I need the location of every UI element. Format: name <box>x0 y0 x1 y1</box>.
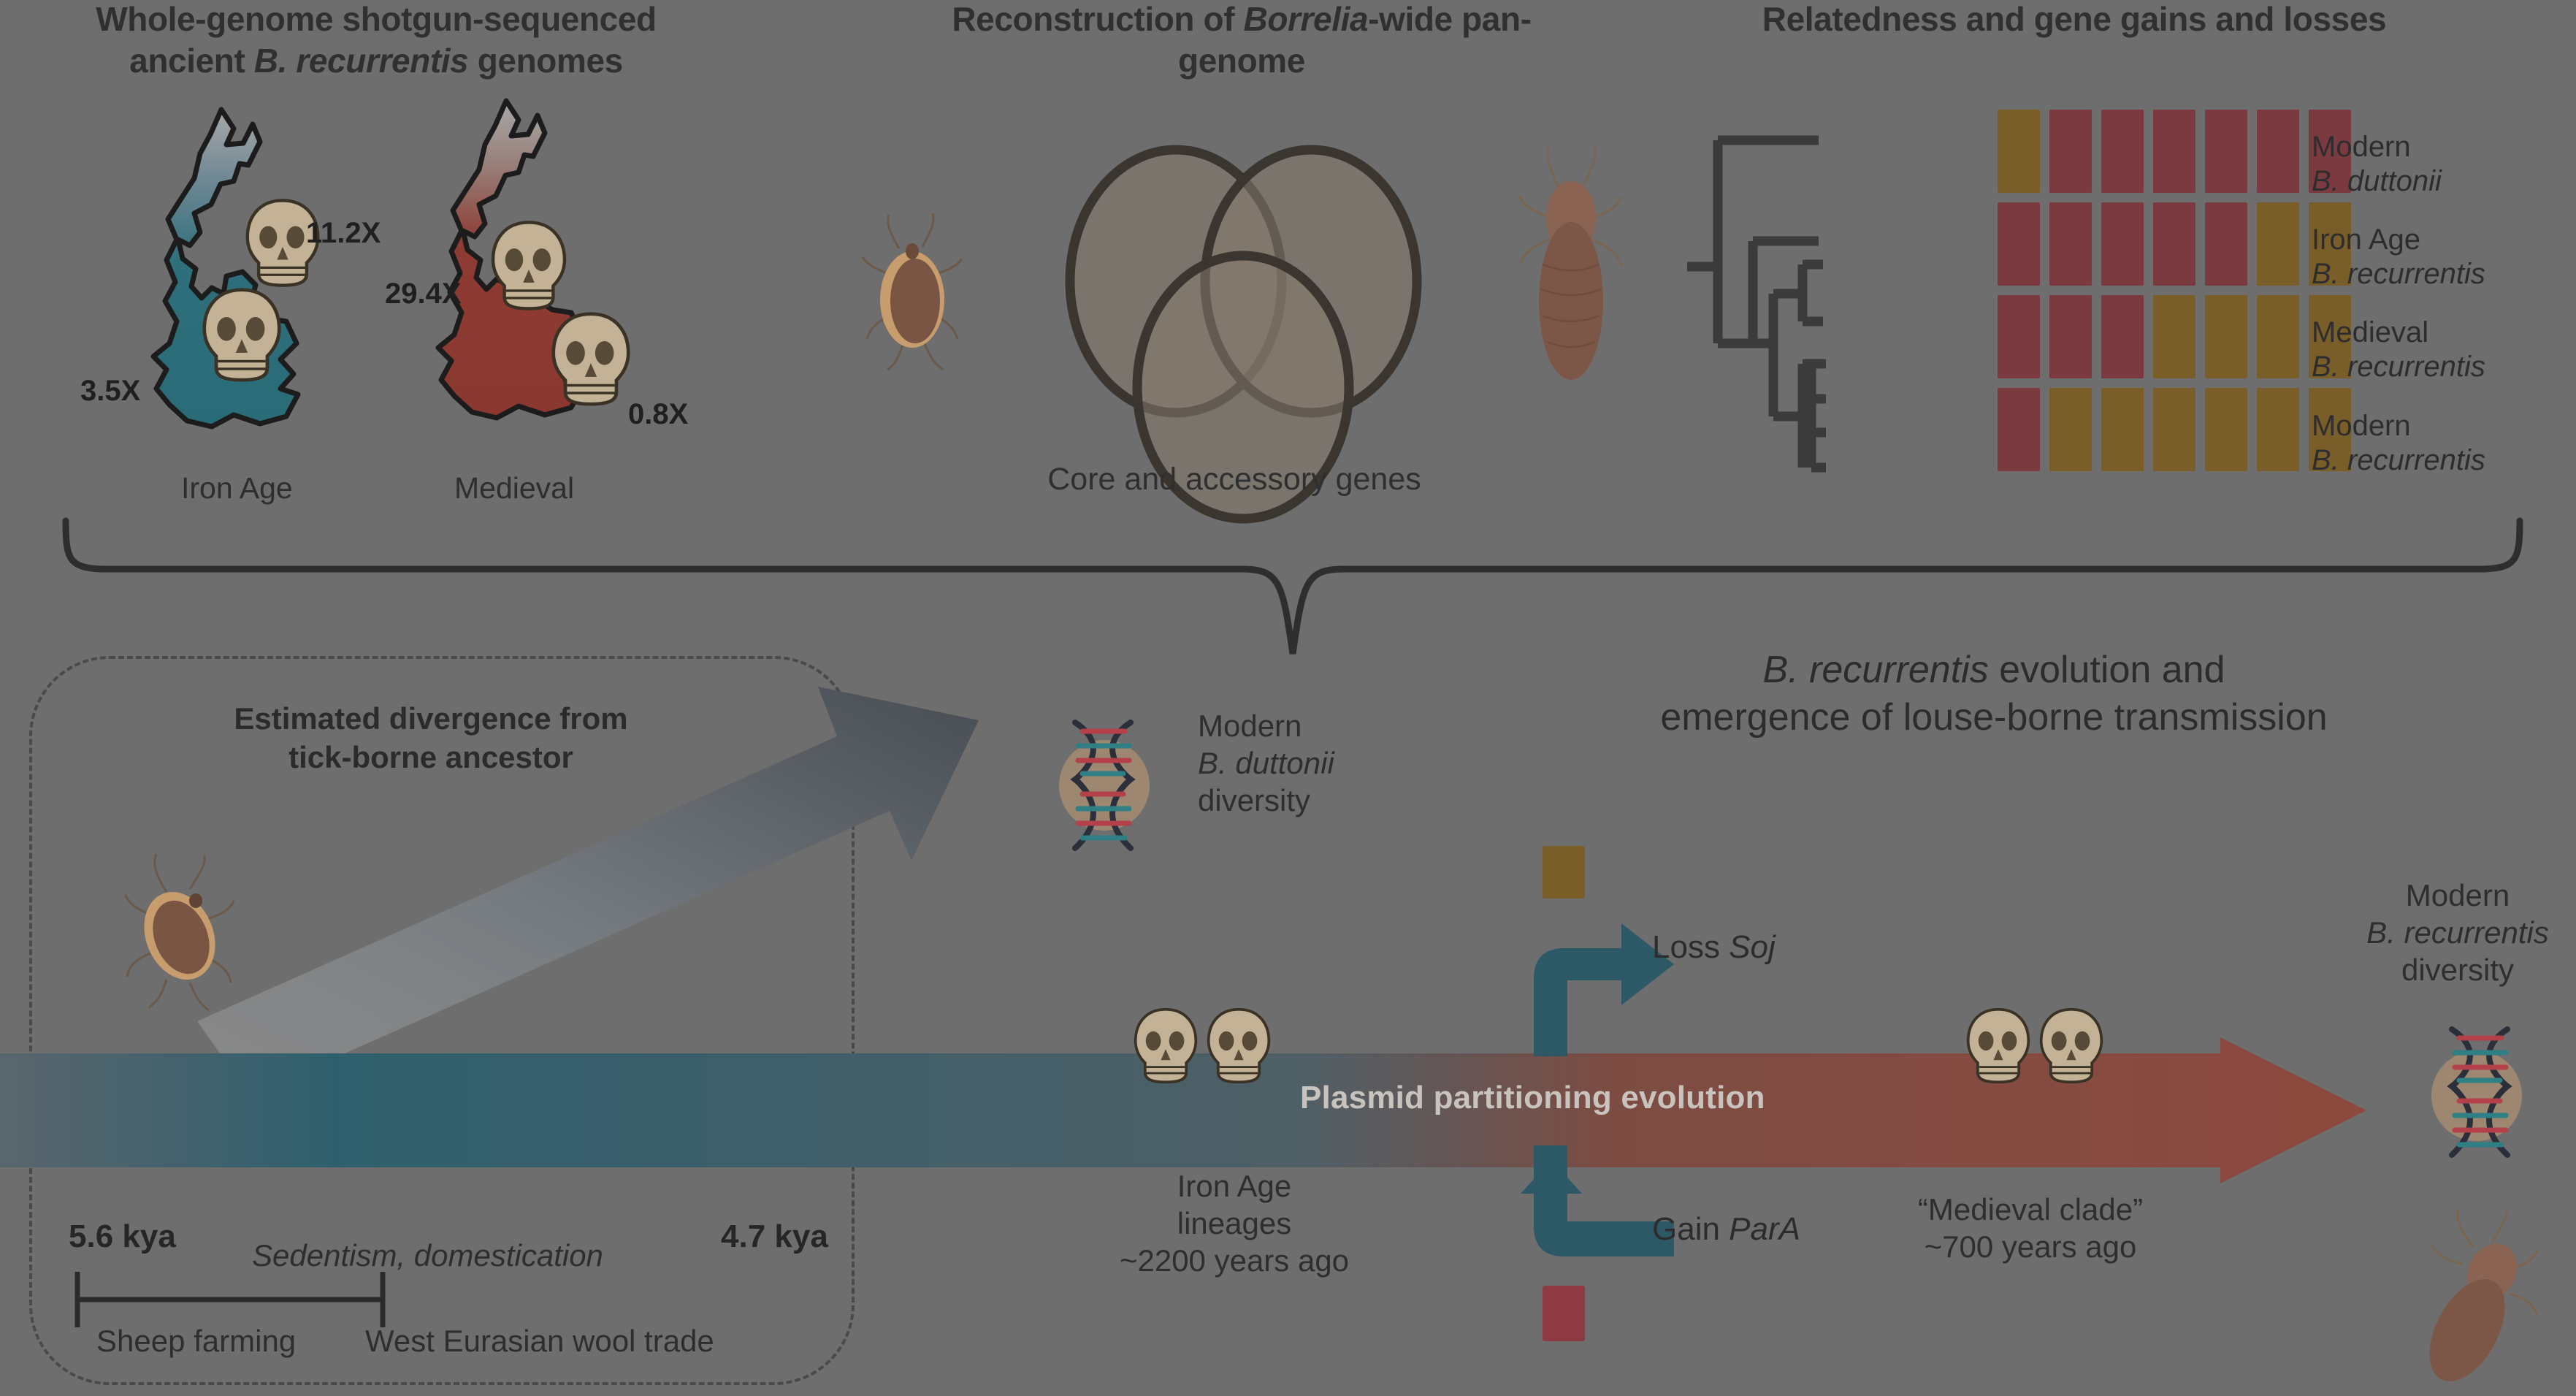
evolution-title-line2: emergence of louse-borne transmission <box>1660 696 2327 739</box>
evolution-title-line1-rest: evolution and <box>1989 649 2225 691</box>
heatmap-cell <box>2205 110 2247 193</box>
heatmap-cell <box>2049 202 2092 286</box>
heatmap-row-label-1: Iron Age B. recurrentis <box>2312 223 2485 291</box>
coverage-medieval-north: 29.4X <box>385 278 462 310</box>
evolution-title: B. recurrentis evolution and emergence o… <box>1570 646 2418 741</box>
coverage-iron-south: 3.5X <box>80 375 140 408</box>
duttonii-node-line3: diversity <box>1198 783 1310 817</box>
panel-title-pangenome-pre: Reconstruction of <box>952 0 1243 38</box>
map-label-iron-age: Iron Age <box>181 471 293 506</box>
heatmap-cell <box>2153 110 2195 193</box>
phylogenetic-tree <box>1680 102 1987 489</box>
heatmap-cell <box>2205 295 2247 378</box>
skull-icon-medieval-north <box>488 219 570 313</box>
heatmap-row-label-2-line1: Medieval <box>2312 316 2428 348</box>
panel-title-pangenome-genus: Borrelia <box>1244 0 1369 38</box>
heatmap-row-label-3: Modern B. recurrentis <box>2312 409 2485 478</box>
iron-age-node-line2: lineages <box>1177 1206 1291 1240</box>
heatmap-cell <box>2101 295 2144 378</box>
divergence-left-date: 5.6 kya <box>69 1218 176 1255</box>
panel-title-genomes-species: B. recurrentis <box>254 42 469 80</box>
tick-icon <box>851 205 982 373</box>
heatmap-row-label-3-line2: B. recurrentis <box>2312 444 2485 476</box>
heatmap-row-label-0-line1: Modern <box>2312 131 2411 163</box>
heatmap-row-label-1-line1: Iron Age <box>2312 224 2420 256</box>
duttonii-node-line1: Modern <box>1198 709 1302 743</box>
louse-icon <box>1505 139 1636 380</box>
heatmap-cell <box>1998 388 2040 471</box>
gain-para-gene: ParA <box>1729 1211 1800 1247</box>
summary-brace <box>58 515 2527 665</box>
heatmap-row-label-1-line2: B. recurrentis <box>2312 258 2485 290</box>
skull-icon-timeline-medieval-1 <box>1963 1007 2033 1086</box>
heatmap-cell <box>2101 202 2144 286</box>
heatmap-cell <box>2257 388 2299 471</box>
iron-age-node-label: Iron Age lineages ~2200 years ago <box>1103 1167 1366 1280</box>
medieval-node-line1: “Medieval clade” <box>1918 1192 2143 1227</box>
loss-soj-swatch <box>1543 846 1585 899</box>
medieval-node-label: “Medieval clade” ~700 years ago <box>1877 1191 2184 1265</box>
skull-icon-timeline-medieval-2 <box>2036 1007 2106 1086</box>
panel-title-genomes-line2-post: genomes <box>468 42 623 80</box>
panel-title-pangenome: Reconstruction of Borrelia-wide pan-geno… <box>891 0 1592 82</box>
duttonii-node-line2: B. duttonii <box>1198 746 1334 780</box>
evolution-title-species: B. recurrentis <box>1762 649 1988 691</box>
figure-canvas: Whole-genome shotgun-sequenced ancient B… <box>0 0 2576 1396</box>
heatmap-cell <box>2153 295 2195 378</box>
panel-title-genomes-line1: Whole-genome shotgun-sequenced <box>96 0 656 38</box>
heatmap-cell <box>2205 388 2247 471</box>
panel-title-genomes-line2-pre: ancient <box>129 42 254 80</box>
heatmap-row-label-2-line2: B. recurrentis <box>2312 351 2485 383</box>
medieval-node-line2: ~700 years ago <box>1925 1229 2137 1264</box>
heatmap-cell <box>2101 388 2144 471</box>
gain-para-label: Gain ParA <box>1652 1211 1800 1248</box>
heatmap-row-label-0: Modern B. duttonii <box>2312 130 2442 199</box>
heatmap-cell <box>2153 388 2195 471</box>
loss-soj-label-pre: Loss <box>1652 929 1729 965</box>
loss-soj-gene: Soj <box>1729 929 1776 965</box>
heatmap-row-label-2: Medieval B. recurrentis <box>2312 316 2485 384</box>
heatmap-cell <box>2049 295 2092 378</box>
heatmap-cell <box>2257 295 2299 378</box>
duttonii-node-label: Modern B. duttonii diversity <box>1198 707 1334 820</box>
skull-icon-timeline-iron-1 <box>1131 1007 1201 1086</box>
loss-soj-label: Loss Soj <box>1652 929 1776 966</box>
map-label-medieval: Medieval <box>454 471 574 506</box>
heatmap-cell <box>2049 388 2092 471</box>
heatmap-cell <box>2049 110 2092 193</box>
heatmap-cell <box>2205 202 2247 286</box>
heatmap-row-label-3-line1: Modern <box>2312 410 2411 442</box>
skull-icon-medieval-south <box>548 310 634 408</box>
dna-icon-recurrentis <box>2414 1019 2545 1165</box>
divergence-middle-label: Sedentism, domestication <box>252 1237 603 1274</box>
recurrentis-node-line2: B. recurrentis <box>2366 915 2549 950</box>
heatmap-cell <box>1998 202 2040 286</box>
coverage-iron-north: 11.2X <box>306 217 381 250</box>
skull-icon-timeline-iron-2 <box>1204 1007 1274 1086</box>
panel-title-relatedness: Relatedness and gene gains and losses <box>1673 0 2476 40</box>
gain-para-label-pre: Gain <box>1652 1211 1729 1247</box>
coverage-medieval-south: 0.8X <box>628 398 688 431</box>
recurrentis-node-label: Modern B. recurrentis diversity <box>2337 877 2576 989</box>
panel-title-genomes: Whole-genome shotgun-sequenced ancient B… <box>66 0 687 82</box>
recurrentis-node-line1: Modern <box>2406 878 2510 912</box>
louse-icon-bottom <box>2410 1202 2556 1384</box>
heatmap-cell <box>1998 295 2040 378</box>
heatmap-cell <box>2257 202 2299 286</box>
iron-age-node-line3: ~2200 years ago <box>1120 1243 1349 1278</box>
heatmap-cell <box>1998 110 2040 193</box>
divergence-footer-left: Sheep farming <box>96 1322 296 1359</box>
heatmap-cell <box>2101 110 2144 193</box>
heatmap-cell <box>2257 110 2299 193</box>
heatmap-cell <box>2153 202 2195 286</box>
skull-icon-iron-south <box>199 286 285 384</box>
divergence-right-date: 4.7 kya <box>721 1218 828 1255</box>
divergence-footer-right: West Eurasian wool trade <box>365 1322 714 1359</box>
recurrentis-node-line3: diversity <box>2401 953 2514 987</box>
iron-age-node-line1: Iron Age <box>1177 1169 1291 1203</box>
dna-icon-duttonii <box>1037 712 1169 858</box>
timeline-bar-label: Plasmid partitioning evolution <box>1300 1080 1765 1116</box>
heatmap-row-label-0-line2: B. duttonii <box>2312 165 2442 197</box>
caption-core-accessory: Core and accessory genes <box>869 460 1600 498</box>
